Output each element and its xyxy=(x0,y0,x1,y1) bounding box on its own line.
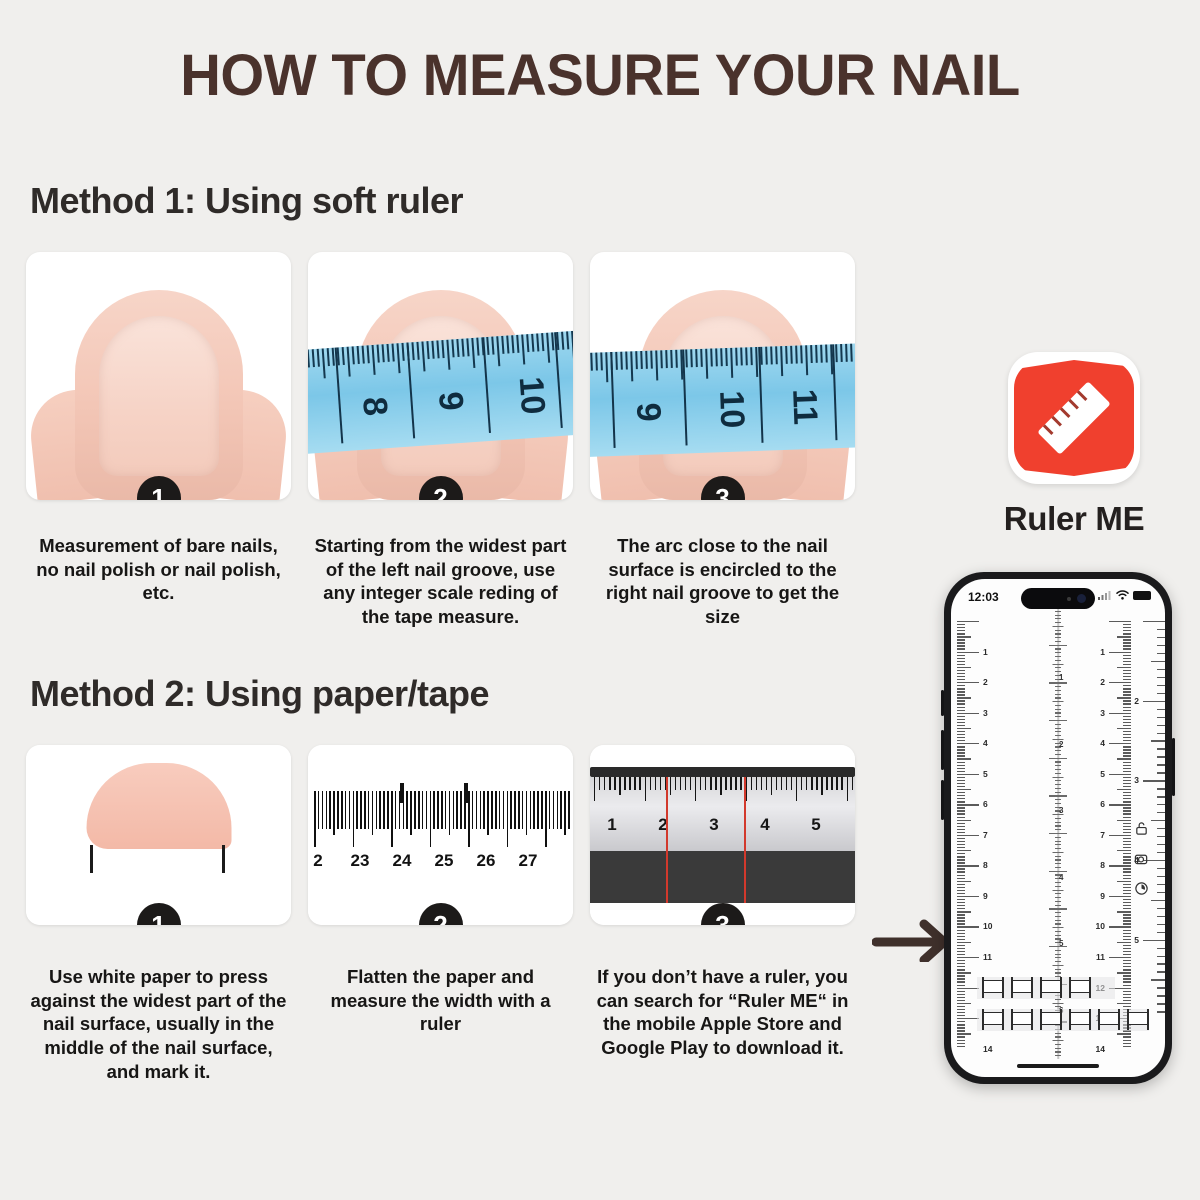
ruler-label: 26 xyxy=(477,851,496,871)
measurement-marker[interactable] xyxy=(1099,1012,1119,1025)
ruler-scale-number: 5 xyxy=(983,769,988,779)
ruler-scale-number: 3 xyxy=(1100,708,1105,718)
phone-volume-up-button[interactable] xyxy=(941,730,944,770)
measurement-marker[interactable] xyxy=(1041,980,1061,993)
camera-icon[interactable] xyxy=(1134,851,1149,866)
ruler-edge-top xyxy=(590,767,855,777)
step-card: 22324252627 2 Flatten the paper and meas… xyxy=(308,745,573,1083)
ruler-scale-number: 9 xyxy=(1100,891,1105,901)
step-image-tape-wrapped: 9 10 11 3 xyxy=(590,252,855,500)
ruler-scale-number: 6 xyxy=(1100,799,1105,809)
ruler-scale-number: 4 xyxy=(1100,738,1105,748)
infographic-page: HOW TO MEASURE YOUR NAIL Method 1: Using… xyxy=(0,0,1200,1200)
tape-number: 10 xyxy=(511,375,553,415)
page-title: HOW TO MEASURE YOUR NAIL xyxy=(18,42,1182,109)
step-card: 8 9 10 2 Starting from the widest part o… xyxy=(308,252,573,629)
measurement-marker[interactable] xyxy=(983,1012,1003,1025)
ruler-scale-number: 1 xyxy=(983,647,988,657)
step-card: 9 10 11 3 The arc close to the nail surf… xyxy=(590,252,855,629)
measurement-marker[interactable] xyxy=(1041,1012,1061,1025)
phone-screen: 12:03 1234567891011121314 12345678910 xyxy=(951,579,1165,1077)
ruler-scale-number: 5 xyxy=(1059,939,1063,948)
app-name-label: Ruler ME xyxy=(985,500,1163,538)
measurement-line-right xyxy=(744,777,746,903)
ruler-label: 3 xyxy=(709,815,718,835)
measurement-marker[interactable] xyxy=(1128,1012,1148,1025)
ruler-scale-number: 4 xyxy=(1059,873,1063,882)
blue-tape-measure: 9 10 11 xyxy=(590,343,855,457)
ruler-label: 1 xyxy=(607,815,616,835)
ruler-scale-number: 2 xyxy=(1059,740,1063,749)
millimeter-ruler: 22324252627 xyxy=(308,791,573,901)
measurement-marker[interactable] xyxy=(983,980,1003,993)
ruler-scale-number: 3 xyxy=(983,708,988,718)
ruler-scale-number: 5 xyxy=(1134,935,1139,945)
ruler-scale-number: 9 xyxy=(983,891,988,901)
ruler-scale-number: 1 xyxy=(1059,673,1063,682)
ruler-label: 5 xyxy=(811,815,820,835)
ruler-face: 12345 xyxy=(590,777,855,851)
lock-icon[interactable] xyxy=(1134,821,1149,836)
tape-number: 11 xyxy=(784,388,824,425)
pencil-mark-right xyxy=(222,845,225,873)
ruler-scale-number: 4 xyxy=(983,738,988,748)
ruler-scale-number: 14 xyxy=(983,1044,992,1054)
ruler-label: 2 xyxy=(313,851,322,871)
ruler-scale-number: 3 xyxy=(1059,806,1063,815)
pen-mark-right xyxy=(464,783,468,803)
measurement-marker-row-bottom[interactable] xyxy=(977,1009,1149,1031)
step-image-tape-on-finger: 8 9 10 2 xyxy=(308,252,573,500)
step-image-nail-on-paper: 1 xyxy=(26,745,291,925)
ruler-scale-number: 8 xyxy=(1100,860,1105,870)
measurement-line-left xyxy=(666,777,668,903)
battery-icon xyxy=(1133,591,1151,600)
method-2-heading: Method 2: Using paper/tape xyxy=(30,673,489,715)
ruler-scale-number: 2 xyxy=(1134,696,1139,706)
ruler-scale-number: 14 xyxy=(1096,1044,1105,1054)
ruler-scale-number: 11 xyxy=(1096,952,1105,962)
method-1-heading: Method 1: Using soft ruler xyxy=(30,180,463,222)
step-image-bare-nail: 1 xyxy=(26,252,291,500)
phone-volume-down-button[interactable] xyxy=(941,780,944,820)
dynamic-island xyxy=(1021,588,1095,609)
measurement-marker[interactable] xyxy=(1012,1012,1032,1025)
measurement-marker-row-top[interactable] xyxy=(977,977,1115,999)
tape-number: 8 xyxy=(354,396,394,418)
step-caption: The arc close to the nail surface is enc… xyxy=(590,534,855,629)
nail-plate xyxy=(99,316,219,476)
phone-power-button[interactable] xyxy=(1172,738,1175,796)
step-card: 1 Measurement of bare nails, no nail pol… xyxy=(26,252,291,629)
phone-mockup: 12:03 1234567891011121314 12345678910 xyxy=(944,572,1172,1084)
finger-illustration xyxy=(26,252,291,500)
ruler-shadow-bottom xyxy=(590,851,855,903)
step-caption: Starting from the widest part of the lef… xyxy=(308,534,573,629)
ruler-label: 4 xyxy=(760,815,769,835)
ruler-scale-number: 1 xyxy=(1100,647,1105,657)
tape-number: 10 xyxy=(711,390,751,429)
ruler-label: 25 xyxy=(435,851,454,871)
pen-mark-left xyxy=(400,783,404,803)
app-promo: Ruler ME xyxy=(985,352,1163,538)
step-caption: Flatten the paper and measure the width … xyxy=(308,965,573,1036)
step-caption: If you don’t have a ruler, you can searc… xyxy=(590,965,855,1060)
status-bar-time: 12:03 xyxy=(968,590,999,604)
ruler-scale-number: 11 xyxy=(983,952,992,962)
wifi-icon xyxy=(1116,590,1129,600)
ruler-scale-number: 10 xyxy=(983,921,992,931)
blue-tape-measure: 8 9 10 xyxy=(308,330,573,454)
metal-ruler-illustration: 12345 xyxy=(590,745,855,925)
step-card: 12345 3 If you don’t have a ruler, you c… xyxy=(590,745,855,1083)
method-1-steps: 1 Measurement of bare nails, no nail pol… xyxy=(26,252,855,629)
ruler-scale-number: 3 xyxy=(1134,775,1139,785)
ruler-scale-number: 2 xyxy=(983,677,988,687)
ruler-scale-number: 8 xyxy=(983,860,988,870)
method-2-steps: 1 Use white paper to press against the w… xyxy=(26,745,855,1083)
ruler-scale-number: 7 xyxy=(983,830,988,840)
phone-mute-switch[interactable] xyxy=(941,690,944,716)
tape-number: 9 xyxy=(430,390,470,412)
ruler-scale-number: 7 xyxy=(1100,830,1105,840)
status-bar-icons xyxy=(1098,590,1151,600)
finger-body xyxy=(75,290,243,500)
ruler-glyph xyxy=(1008,352,1140,484)
measurement-marker[interactable] xyxy=(1070,1012,1090,1025)
step-image-metal-ruler: 12345 3 xyxy=(590,745,855,925)
ruler-label: 24 xyxy=(393,851,412,871)
tape-ticks xyxy=(590,343,855,393)
tape-number: 9 xyxy=(628,402,668,422)
pencil-mark-left xyxy=(90,845,93,873)
ruler-scale-number: 10 xyxy=(1096,921,1105,931)
ruler-scale-number: 6 xyxy=(983,799,988,809)
cellular-icon xyxy=(1098,590,1112,600)
ruler-label: 27 xyxy=(519,851,538,871)
ruler-scale-number: 5 xyxy=(1100,769,1105,779)
timer-icon[interactable] xyxy=(1134,881,1149,896)
ruler-scale-number: 2 xyxy=(1100,677,1105,687)
front-camera-icon xyxy=(1077,594,1086,603)
measurement-marker[interactable] xyxy=(1070,980,1090,993)
step-caption: Measurement of bare nails, no nail polis… xyxy=(26,534,291,605)
step-caption: Use white paper to press against the wid… xyxy=(26,965,291,1083)
home-indicator[interactable] xyxy=(1017,1064,1099,1068)
ruler-scale-far-right: 23456 xyxy=(1139,615,1165,1061)
step-image-paper-ruler: 22324252627 2 xyxy=(308,745,573,925)
step-card: 1 Use white paper to press against the w… xyxy=(26,745,291,1083)
ruler-label: 23 xyxy=(351,851,370,871)
sensor-dot xyxy=(1067,597,1071,601)
ruler-app-icon[interactable] xyxy=(1008,352,1140,484)
measurement-marker[interactable] xyxy=(1012,980,1032,993)
